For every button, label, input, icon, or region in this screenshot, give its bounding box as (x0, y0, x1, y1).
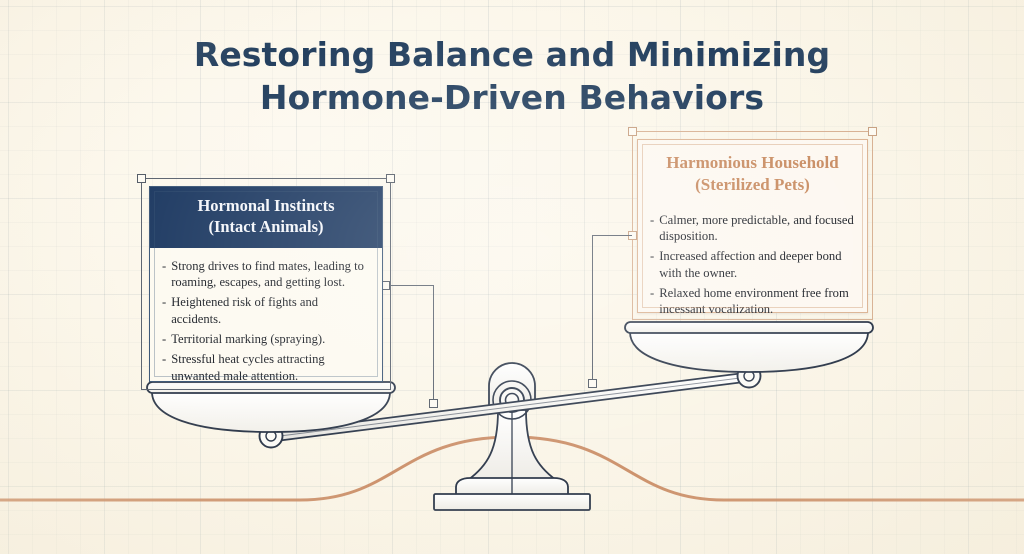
right-panel-handle-top-right[interactable] (868, 127, 877, 136)
right-connector-horizontal (592, 235, 632, 236)
right-panel-heading-line-2: (Sterilized Pets) (646, 174, 859, 196)
right-panel-heading-line-1: Harmonious Household (666, 153, 838, 172)
left-beam-handle[interactable] (429, 399, 438, 408)
page-title: Restoring Balance and Minimizing Hormone… (0, 34, 1024, 120)
right-beam-handle[interactable] (588, 379, 597, 388)
bullet-text: Strong drives to find mates, leading to … (171, 258, 370, 291)
right-panel-handle-top-left[interactable] (628, 127, 637, 136)
right-connector-vertical (592, 235, 593, 383)
bullet-text: Relaxed home environment free from inces… (659, 285, 855, 318)
bullet-marker: - (162, 294, 166, 327)
left-panel-handle-top-right[interactable] (386, 174, 395, 183)
list-item: - Heightened risk of fights and accident… (162, 294, 370, 327)
bullet-marker: - (162, 351, 166, 384)
left-panel-heading-line-1: Hormonal Instincts (197, 196, 334, 215)
list-item: - Relaxed home environment free from inc… (650, 285, 855, 318)
bullet-marker: - (650, 212, 654, 245)
bullet-text: Heightened risk of fights and accidents. (171, 294, 370, 327)
bullet-text: Increased affection and deeper bond with… (659, 248, 855, 281)
list-item: - Increased affection and deeper bond wi… (650, 248, 855, 281)
title-line-2: Hormone-Driven Behaviors (0, 77, 1024, 120)
bullet-marker: - (650, 248, 654, 281)
right-panel[interactable]: Harmonious Household (Sterilized Pets) -… (637, 139, 868, 313)
left-panel-heading-line-2: (Intact Animals) (158, 217, 374, 238)
list-item: - Stressful heat cycles attracting unwan… (162, 351, 370, 384)
right-pan-bowl (630, 332, 868, 372)
bullet-text: Calmer, more predictable, and focused di… (659, 212, 855, 245)
list-item: - Strong drives to find mates, leading t… (162, 258, 370, 291)
right-panel-header: Harmonious Household (Sterilized Pets) (638, 140, 867, 202)
list-item: - Territorial marking (spraying). (162, 331, 370, 347)
left-panel[interactable]: Hormonal Instincts (Intact Animals) - St… (149, 186, 383, 382)
bullet-text: Stressful heat cycles attracting unwante… (171, 351, 370, 384)
list-item: - Calmer, more predictable, and focused … (650, 212, 855, 245)
left-connector-vertical (433, 285, 434, 403)
left-panel-handle-top-left[interactable] (137, 174, 146, 183)
left-panel-header: Hormonal Instincts (Intact Animals) (150, 187, 382, 248)
bullet-text: Territorial marking (spraying). (171, 331, 370, 347)
right-panel-body: - Calmer, more predictable, and focused … (638, 202, 867, 332)
bullet-marker: - (162, 331, 166, 347)
bullet-marker: - (162, 258, 166, 291)
left-connector-horizontal (390, 285, 434, 286)
left-panel-body: - Strong drives to find mates, leading t… (150, 248, 382, 399)
infographic-canvas: Restoring Balance and Minimizing Hormone… (0, 0, 1024, 554)
base-plate (434, 494, 590, 510)
bullet-marker: - (650, 285, 654, 318)
right-pan-assembly (625, 322, 873, 388)
title-line-1: Restoring Balance and Minimizing (194, 35, 830, 74)
